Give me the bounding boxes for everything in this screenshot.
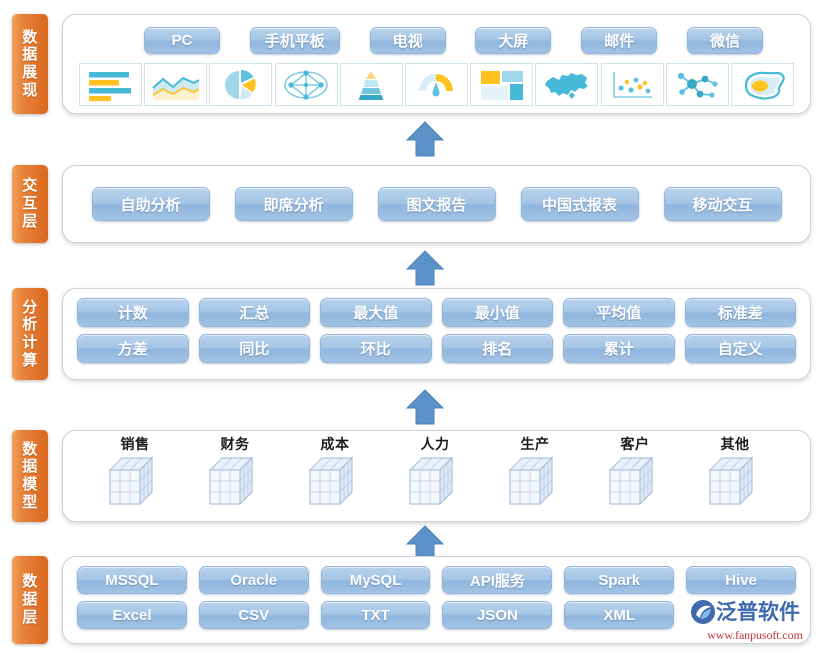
cube-label: 成本 [321, 437, 350, 451]
analysis-button-cumulative[interactable]: 累计 [563, 334, 675, 363]
tab-char: 据 [22, 591, 38, 609]
cube-label: 人力 [421, 437, 450, 451]
tab-char: 数 [22, 441, 38, 459]
cube-3d-icon [104, 452, 166, 510]
cube-3d-icon [704, 452, 766, 510]
interaction-button-chinese-style-report[interactable]: 中国式报表 [521, 187, 639, 221]
tab-char: 算 [22, 352, 38, 370]
bar-chart-icon[interactable] [79, 63, 142, 106]
tab-char: 数 [22, 29, 38, 47]
cube-3d-icon [504, 452, 566, 510]
tab-char: 模 [22, 476, 38, 494]
radar-chart-icon[interactable] [275, 63, 338, 106]
source-button-xml[interactable]: XML [564, 601, 674, 629]
analysis-row-2: 方差 同比 环比 排名 累计 自定义 [77, 334, 796, 363]
analysis-button-min[interactable]: 最小值 [442, 298, 554, 327]
cube-3d-icon [604, 452, 666, 510]
up-arrow-icon [404, 388, 446, 426]
tab-char: 层 [22, 213, 38, 231]
tab-char: 数 [22, 573, 38, 591]
tab-char: 层 [22, 609, 38, 627]
analysis-button-ranking[interactable]: 排名 [442, 334, 554, 363]
device-button-row: PC 手机平板 电视 大屏 邮件 微信 [77, 25, 796, 55]
tab-char: 互 [22, 195, 38, 213]
tab-char: 交 [22, 177, 38, 195]
tab-char: 展 [22, 64, 38, 82]
data-display-panel: PC 手机平板 电视 大屏 邮件 微信 [62, 14, 811, 114]
layer-tab-interaction: 交 互 层 [12, 165, 48, 243]
device-button-mobile-tablet[interactable]: 手机平板 [250, 27, 340, 54]
cube-label: 生产 [521, 437, 550, 451]
cube-label: 销售 [121, 437, 150, 451]
source-button-oracle[interactable]: Oracle [199, 566, 309, 594]
interaction-button-adhoc-analysis[interactable]: 即席分析 [235, 187, 353, 221]
device-button-pc[interactable]: PC [144, 27, 220, 54]
device-button-large-screen[interactable]: 大屏 [475, 27, 551, 54]
cube-3d-icon [404, 452, 466, 510]
cube-3d-icon [204, 452, 266, 510]
treemap-chart-icon[interactable] [470, 63, 533, 106]
china-map-icon[interactable] [535, 63, 598, 106]
analysis-button-count[interactable]: 计数 [77, 298, 189, 327]
analysis-button-year-over-year[interactable]: 同比 [199, 334, 311, 363]
data-source-panel: MSSQL Oracle MySQL API服务 Spark Hive Exce… [62, 556, 811, 644]
layer-data-model: 数 据 模 型 销售 [12, 430, 811, 522]
cube-label: 其他 [721, 437, 750, 451]
source-button-json[interactable]: JSON [442, 601, 552, 629]
model-cube-production[interactable]: 生产 [485, 437, 585, 510]
cube-label: 财务 [221, 437, 250, 451]
source-button-csv[interactable]: CSV [199, 601, 309, 629]
pie-chart-icon[interactable] [209, 63, 272, 106]
device-button-email[interactable]: 邮件 [581, 27, 657, 54]
device-button-tv[interactable]: 电视 [370, 27, 446, 54]
analysis-button-sum[interactable]: 汇总 [199, 298, 311, 327]
source-button-spark[interactable]: Spark [564, 566, 674, 594]
layer-interaction: 交 互 层 自助分析 即席分析 图文报告 中国式报表 移动交互 [12, 165, 811, 243]
layer-tab-analysis-calculation: 分 析 计 算 [12, 288, 48, 380]
network-graph-icon[interactable] [666, 63, 729, 106]
tab-char: 现 [22, 82, 38, 100]
model-cube-hr[interactable]: 人力 [385, 437, 485, 510]
layer-tab-data-model: 数 据 模 型 [12, 430, 48, 522]
layer-data-source: 数 据 层 MSSQL Oracle MySQL API服务 Spark Hiv… [12, 556, 811, 644]
layer-data-display: 数 据 展 现 PC 手机平板 电视 大屏 邮件 微信 [12, 14, 811, 114]
interaction-button-mobile-interaction[interactable]: 移动交互 [664, 187, 782, 221]
layer-tab-data-display: 数 据 展 现 [12, 14, 48, 114]
model-cube-customer[interactable]: 客户 [585, 437, 685, 510]
chart-icon-row [77, 63, 796, 106]
layer-analysis-calculation: 分 析 计 算 计数 汇总 最大值 最小值 平均值 标准差 方差 同比 环比 排… [12, 288, 811, 380]
layer-tab-data-source: 数 据 层 [12, 556, 48, 644]
area-line-chart-icon[interactable] [144, 63, 207, 106]
tab-char: 计 [22, 334, 38, 352]
data-source-row-2: Excel CSV TXT JSON XML [77, 601, 796, 629]
source-button-hive[interactable]: Hive [686, 566, 796, 594]
scatter-chart-icon[interactable] [601, 63, 664, 106]
data-model-panel: 销售 [62, 430, 811, 522]
pyramid-chart-icon[interactable] [340, 63, 403, 106]
device-button-wechat[interactable]: 微信 [687, 27, 763, 54]
interaction-button-graphic-report[interactable]: 图文报告 [378, 187, 496, 221]
cube-3d-icon [304, 452, 366, 510]
source-button-mysql[interactable]: MySQL [321, 566, 431, 594]
analysis-button-variance[interactable]: 方差 [77, 334, 189, 363]
model-cube-other[interactable]: 其他 [685, 437, 785, 510]
analysis-button-stddev[interactable]: 标准差 [685, 298, 797, 327]
model-cube-finance[interactable]: 财务 [185, 437, 285, 510]
analysis-panel: 计数 汇总 最大值 最小值 平均值 标准差 方差 同比 环比 排名 累计 自定义 [62, 288, 811, 380]
cube-row: 销售 [63, 437, 810, 510]
source-button-mssql[interactable]: MSSQL [77, 566, 187, 594]
analysis-button-custom[interactable]: 自定义 [685, 334, 797, 363]
source-button-api[interactable]: API服务 [442, 566, 552, 594]
cube-label: 客户 [621, 437, 650, 451]
tab-char: 型 [22, 494, 38, 512]
gauge-chart-icon[interactable] [405, 63, 468, 106]
interaction-button-self-service-analysis[interactable]: 自助分析 [92, 187, 210, 221]
interaction-panel: 自助分析 即席分析 图文报告 中国式报表 移动交互 [62, 165, 811, 243]
up-arrow-icon [404, 120, 446, 158]
tab-char: 析 [22, 316, 38, 334]
analysis-button-max[interactable]: 最大值 [320, 298, 432, 327]
tab-char: 据 [22, 46, 38, 64]
up-arrow-icon [404, 249, 446, 287]
tab-char: 据 [22, 458, 38, 476]
analysis-button-average[interactable]: 平均值 [563, 298, 675, 327]
bubble-cloud-icon[interactable] [731, 63, 794, 106]
analysis-row-1: 计数 汇总 最大值 最小值 平均值 标准差 [77, 298, 796, 327]
tab-char: 分 [22, 299, 38, 317]
source-button-txt[interactable]: TXT [321, 601, 431, 629]
source-button-excel[interactable]: Excel [77, 601, 187, 629]
analysis-button-month-over-month[interactable]: 环比 [320, 334, 432, 363]
data-source-row-1: MSSQL Oracle MySQL API服务 Spark Hive [77, 566, 796, 594]
architecture-diagram: 数 据 展 现 PC 手机平板 电视 大屏 邮件 微信 [0, 0, 823, 653]
model-cube-sales[interactable]: 销售 [85, 437, 185, 510]
model-cube-cost[interactable]: 成本 [285, 437, 385, 510]
